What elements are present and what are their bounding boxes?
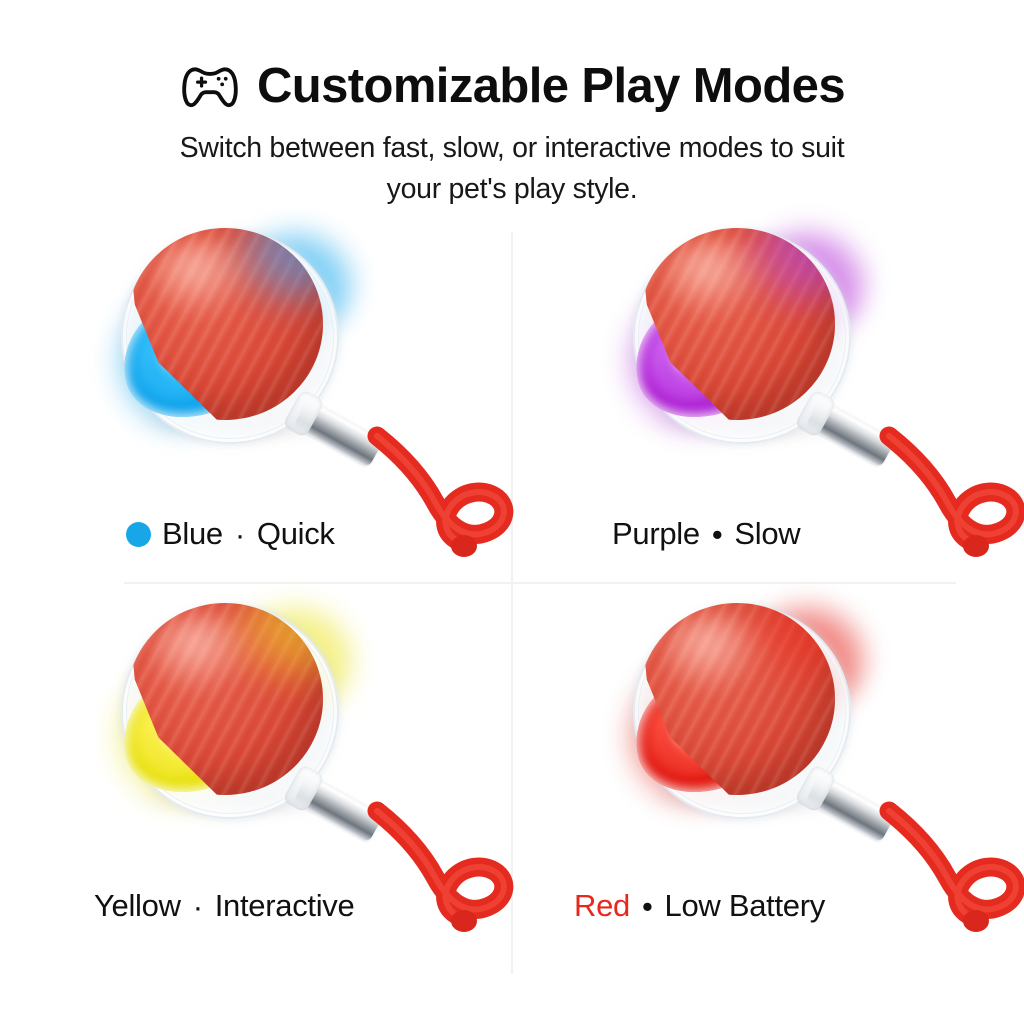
mode-behavior-name: Slow [734, 516, 800, 552]
page-title: Customizable Play Modes [257, 62, 845, 111]
mode-color-name: Red [574, 888, 630, 924]
mode-color-name: Purple [612, 516, 700, 552]
mode-behavior-name: Quick [257, 516, 335, 552]
gamepad-icon [179, 64, 241, 110]
label-separator: • [641, 891, 654, 922]
mode-card-red-low-battery[interactable]: Red • Low Battery [512, 603, 1024, 978]
subtitle-line-2: your pet's play style. [87, 169, 937, 210]
status-dot-blue [126, 522, 151, 547]
mode-card-blue-quick[interactable]: Blue · Quick [0, 228, 512, 603]
page-header: Customizable Play Modes Switch between f… [0, 0, 1024, 210]
mode-behavior-name: Low Battery [665, 888, 825, 924]
play-modes-grid: Blue · Quick [0, 228, 1024, 978]
mode-label-red-low-battery: Red • Low Battery [574, 888, 825, 924]
mode-color-name: Blue [162, 516, 223, 552]
mode-label-blue-quick: Blue · Quick [126, 516, 335, 552]
label-separator: · [192, 891, 204, 922]
mode-label-yellow-interactive: Yellow · Interactive [94, 888, 354, 924]
page-subtitle: Switch between fast, slow, or interactiv… [87, 128, 937, 210]
mode-color-name: Yellow [94, 888, 181, 924]
subtitle-line-1: Switch between fast, slow, or interactiv… [87, 128, 937, 169]
title-row: Customizable Play Modes [0, 62, 1024, 111]
label-separator: • [711, 519, 724, 550]
mode-label-purple-slow: Purple • Slow [612, 516, 800, 552]
mode-card-purple-slow[interactable]: Purple • Slow [512, 228, 1024, 603]
label-separator: · [234, 519, 246, 550]
mode-card-yellow-interactive[interactable]: Yellow · Interactive [0, 603, 512, 978]
mode-behavior-name: Interactive [215, 888, 355, 924]
